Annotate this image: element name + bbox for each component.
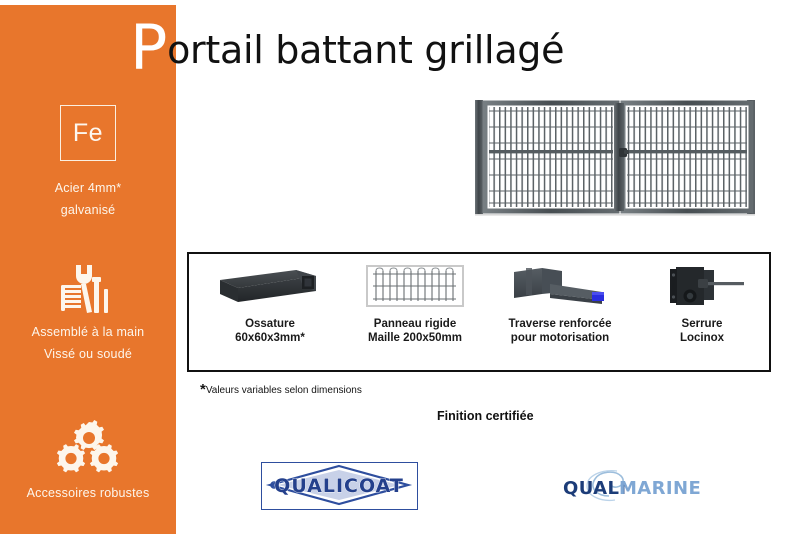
feature-panneau: Panneau rigide Maille 200x50mm [340,262,490,346]
feature-sidebar: Fe Acier 4mm* galvanisé [0,5,176,534]
sidebar-item-assembly: Assemblé à la main Vissé ou soudé [0,263,176,365]
lock-icon [637,262,767,310]
sidebar-item-assembly-line1: Assemblé à la main [0,321,176,343]
feature-serrure-line2: Locinox [637,331,767,346]
qualimarine-logo: QUALI MARINE [557,466,717,508]
feature-panneau-line1: Panneau rigide [340,317,490,331]
sidebar-item-steel-line2: galvanisé [0,199,176,221]
sidebar-item-assembly-line2: Vissé ou soudé [0,343,176,365]
certification-heading: Finition certifiée [437,409,534,423]
footnote-text: Valeurs variables selon dimensions [206,385,362,396]
svg-text:QUALICOAT: QUALICOAT [274,475,404,497]
sidebar-item-accessories: Accessoires robustes [0,420,176,504]
feature-serrure: Serrure Locinox [637,262,767,346]
rigid-mesh-panel-icon [340,262,490,310]
fe-element-box-icon: Fe [60,105,116,161]
feature-ossature-line2: 60x60x3mm* [195,331,345,346]
sidebar-item-accessories-line1: Accessoires robustes [0,482,176,504]
wrench-tools-icon [56,263,120,320]
features-box: Ossature 60x60x3mm* [187,252,771,372]
feature-traverse: Traverse renforcée pour motorisation [480,262,640,346]
qualicoat-logo: QUALICOAT [261,462,418,510]
steel-profile-icon [195,262,345,310]
feature-ossature-line1: Ossature [195,317,345,331]
product-sheet-page: Fe Acier 4mm* galvanisé [0,0,800,534]
feature-ossature: Ossature 60x60x3mm* [195,262,345,346]
svg-text:MARINE: MARINE [619,478,701,499]
feature-traverse-line1: Traverse renforcée [480,317,640,331]
footnote: *Valeurs variables selon dimensions [200,381,362,398]
feature-traverse-line2: pour motorisation [480,331,640,346]
gears-icon [49,420,127,481]
page-title: Portail battant grillagé [130,28,564,72]
sidebar-item-steel-line1: Acier 4mm* [0,177,176,199]
page-title-initial: P [130,11,167,84]
svg-text:QUALI: QUALI [563,478,626,499]
reinforced-crossbar-motor-icon [480,262,640,310]
double-swing-gate-photo [471,93,780,222]
fe-symbol-label: Fe [73,121,103,146]
sidebar-item-steel: Fe Acier 4mm* galvanisé [0,105,176,221]
feature-panneau-line2: Maille 200x50mm [340,331,490,346]
page-title-rest: ortail battant grillagé [167,28,564,72]
feature-serrure-line1: Serrure [637,317,767,331]
